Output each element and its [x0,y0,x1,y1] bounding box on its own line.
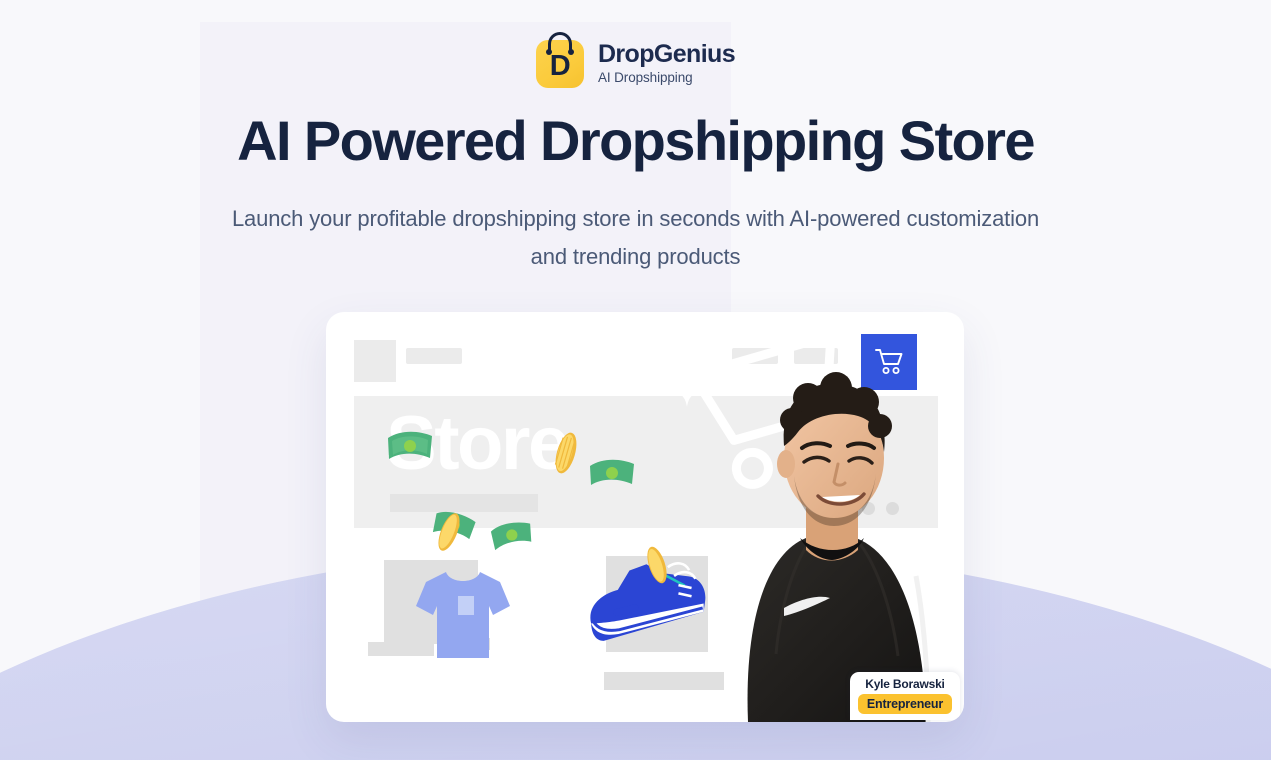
banknote-icon [588,456,636,488]
banknote-icon [490,520,534,552]
shopping-bag-icon: D [536,40,584,88]
status-badge: Entrepreneur [858,694,952,714]
brand-text: DropGenius AI Dropshipping [598,41,735,87]
brand-name: DropGenius [598,41,735,68]
page-title: AI Powered Dropshipping Store [0,108,1271,173]
avatar [688,354,964,722]
skeleton-store-logo [354,340,396,382]
page-subtitle: Launch your profitable dropshipping stor… [221,200,1051,276]
tshirt-icon [412,566,514,664]
coin-icon [436,510,462,554]
logo-letter: D [550,52,570,88]
person-name: Kyle Borawski [858,676,952,694]
coin-icon [644,544,670,586]
brand-logo[interactable]: D DropGenius AI Dropshipping [0,40,1271,88]
bag-rivet-right-icon [568,49,574,55]
landing-page: D DropGenius AI Dropshipping AI Powered … [0,0,1271,760]
brand-tagline: AI Dropshipping [598,69,735,87]
banknote-icon [386,430,434,464]
coin-icon [552,430,580,476]
store-preview-card: Store [326,312,964,722]
skeleton-nav-item-1 [406,348,462,364]
person-name-badge: Kyle Borawski Entrepreneur [850,672,960,720]
bag-rivet-left-icon [546,49,552,55]
